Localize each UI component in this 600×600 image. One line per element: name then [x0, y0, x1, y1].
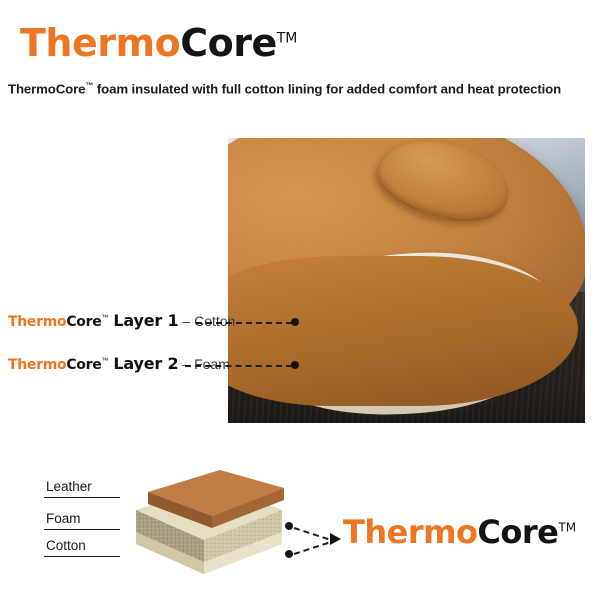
glove-lower-lip — [228, 256, 578, 406]
block-rule-leather — [44, 497, 120, 498]
subtitle-brand: ThermoCore — [8, 81, 85, 96]
footer-logo: ThermoCoreTM — [343, 516, 576, 548]
callout-2-leader-line — [185, 365, 292, 367]
footer-logo-thermo-text: Thermo — [343, 513, 477, 551]
callout-1-trademark-icon: ™ — [101, 315, 108, 322]
arrow-dot-upper — [285, 522, 293, 530]
callout-2-trademark-icon: ™ — [101, 358, 108, 365]
arrow-dot-lower — [285, 550, 293, 558]
callout-2-layer-label: Layer 2 — [113, 354, 178, 373]
callout-2-brand-thermo: Thermo — [8, 357, 66, 373]
callout-1-brand-core: Core — [66, 314, 101, 330]
arrow-head-icon — [330, 533, 341, 545]
block-rule-cotton — [44, 556, 120, 557]
footer-logo-core-text: Core — [477, 513, 558, 551]
callout-1-layer-label: Layer 1 — [113, 311, 178, 330]
layer-block-svg — [126, 470, 286, 578]
block-label-leather: Leather — [46, 479, 92, 494]
callout-2-brand-core: Core — [66, 357, 101, 373]
callout-1-anchor-dot — [291, 318, 299, 326]
footer-trademark-symbol: TM — [558, 520, 576, 534]
callout-1-brand-thermo: Thermo — [8, 314, 66, 330]
callout-1-material-label: – Cotton — [182, 313, 235, 329]
callout-2-anchor-dot — [291, 361, 299, 369]
trademark-symbol: TM — [277, 30, 298, 46]
layer-block-diagram — [126, 470, 286, 578]
callout-2-material-label: – Foam — [182, 356, 229, 372]
subtitle: ThermoCore™ foam insulated with full cot… — [8, 81, 561, 96]
callout-1-leader-line — [196, 322, 292, 324]
block-label-cotton: Cotton — [46, 538, 86, 553]
block-label-foam: Foam — [46, 511, 81, 526]
arrow-line-lower — [294, 542, 329, 555]
product-photo — [228, 138, 585, 423]
page-title-logo: ThermoCoreTM — [20, 24, 297, 62]
subtitle-text: foam insulated with full cotton lining f… — [93, 81, 561, 96]
logo-thermo-text: Thermo — [20, 21, 180, 65]
logo-core-text: Core — [180, 21, 277, 65]
arrow-line-upper — [294, 527, 329, 540]
block-rule-foam — [44, 529, 120, 530]
